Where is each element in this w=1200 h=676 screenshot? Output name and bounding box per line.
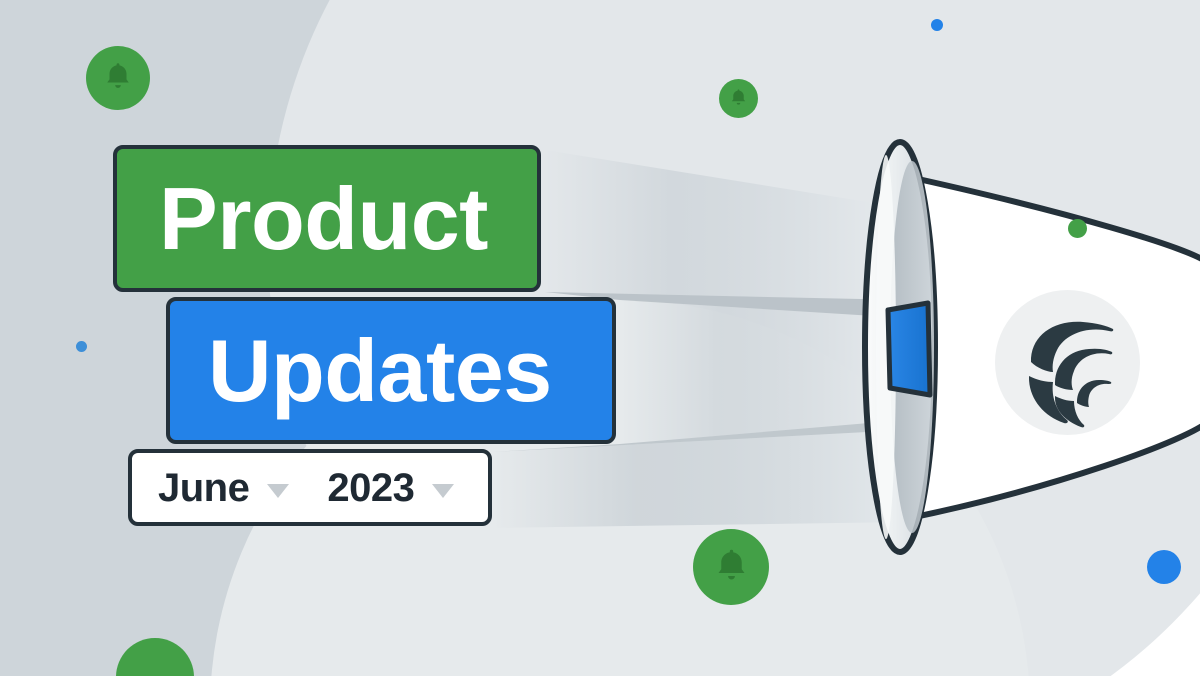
banner-product: Product bbox=[113, 145, 541, 292]
product-updates-hero-banner: Product Updates June 2023 bbox=[0, 0, 1200, 676]
month-chevron-down-icon[interactable] bbox=[267, 484, 289, 498]
year-value[interactable]: 2023 bbox=[327, 468, 414, 508]
year-chevron-down-icon[interactable] bbox=[432, 484, 454, 498]
banner-updates-label: Updates bbox=[208, 327, 552, 415]
date-selector-banner: June 2023 bbox=[128, 449, 492, 526]
dot-blue-top-right bbox=[931, 19, 943, 31]
dot-green-megaphone bbox=[1068, 219, 1087, 238]
dot-blue-bottom-right bbox=[1147, 550, 1181, 584]
bell-icon bbox=[728, 88, 749, 109]
banner-product-label: Product bbox=[159, 175, 488, 263]
bell-badge-top-center bbox=[719, 79, 758, 118]
dot-blue-left bbox=[76, 341, 87, 352]
bell-badge-bottom-center bbox=[693, 529, 769, 605]
bell-badge-top-left bbox=[86, 46, 150, 110]
bell-icon bbox=[711, 547, 752, 588]
circle-green-bottom-left bbox=[116, 638, 194, 676]
banner-updates: Updates bbox=[166, 297, 616, 444]
month-value[interactable]: June bbox=[158, 468, 249, 508]
bell-icon bbox=[101, 61, 135, 95]
